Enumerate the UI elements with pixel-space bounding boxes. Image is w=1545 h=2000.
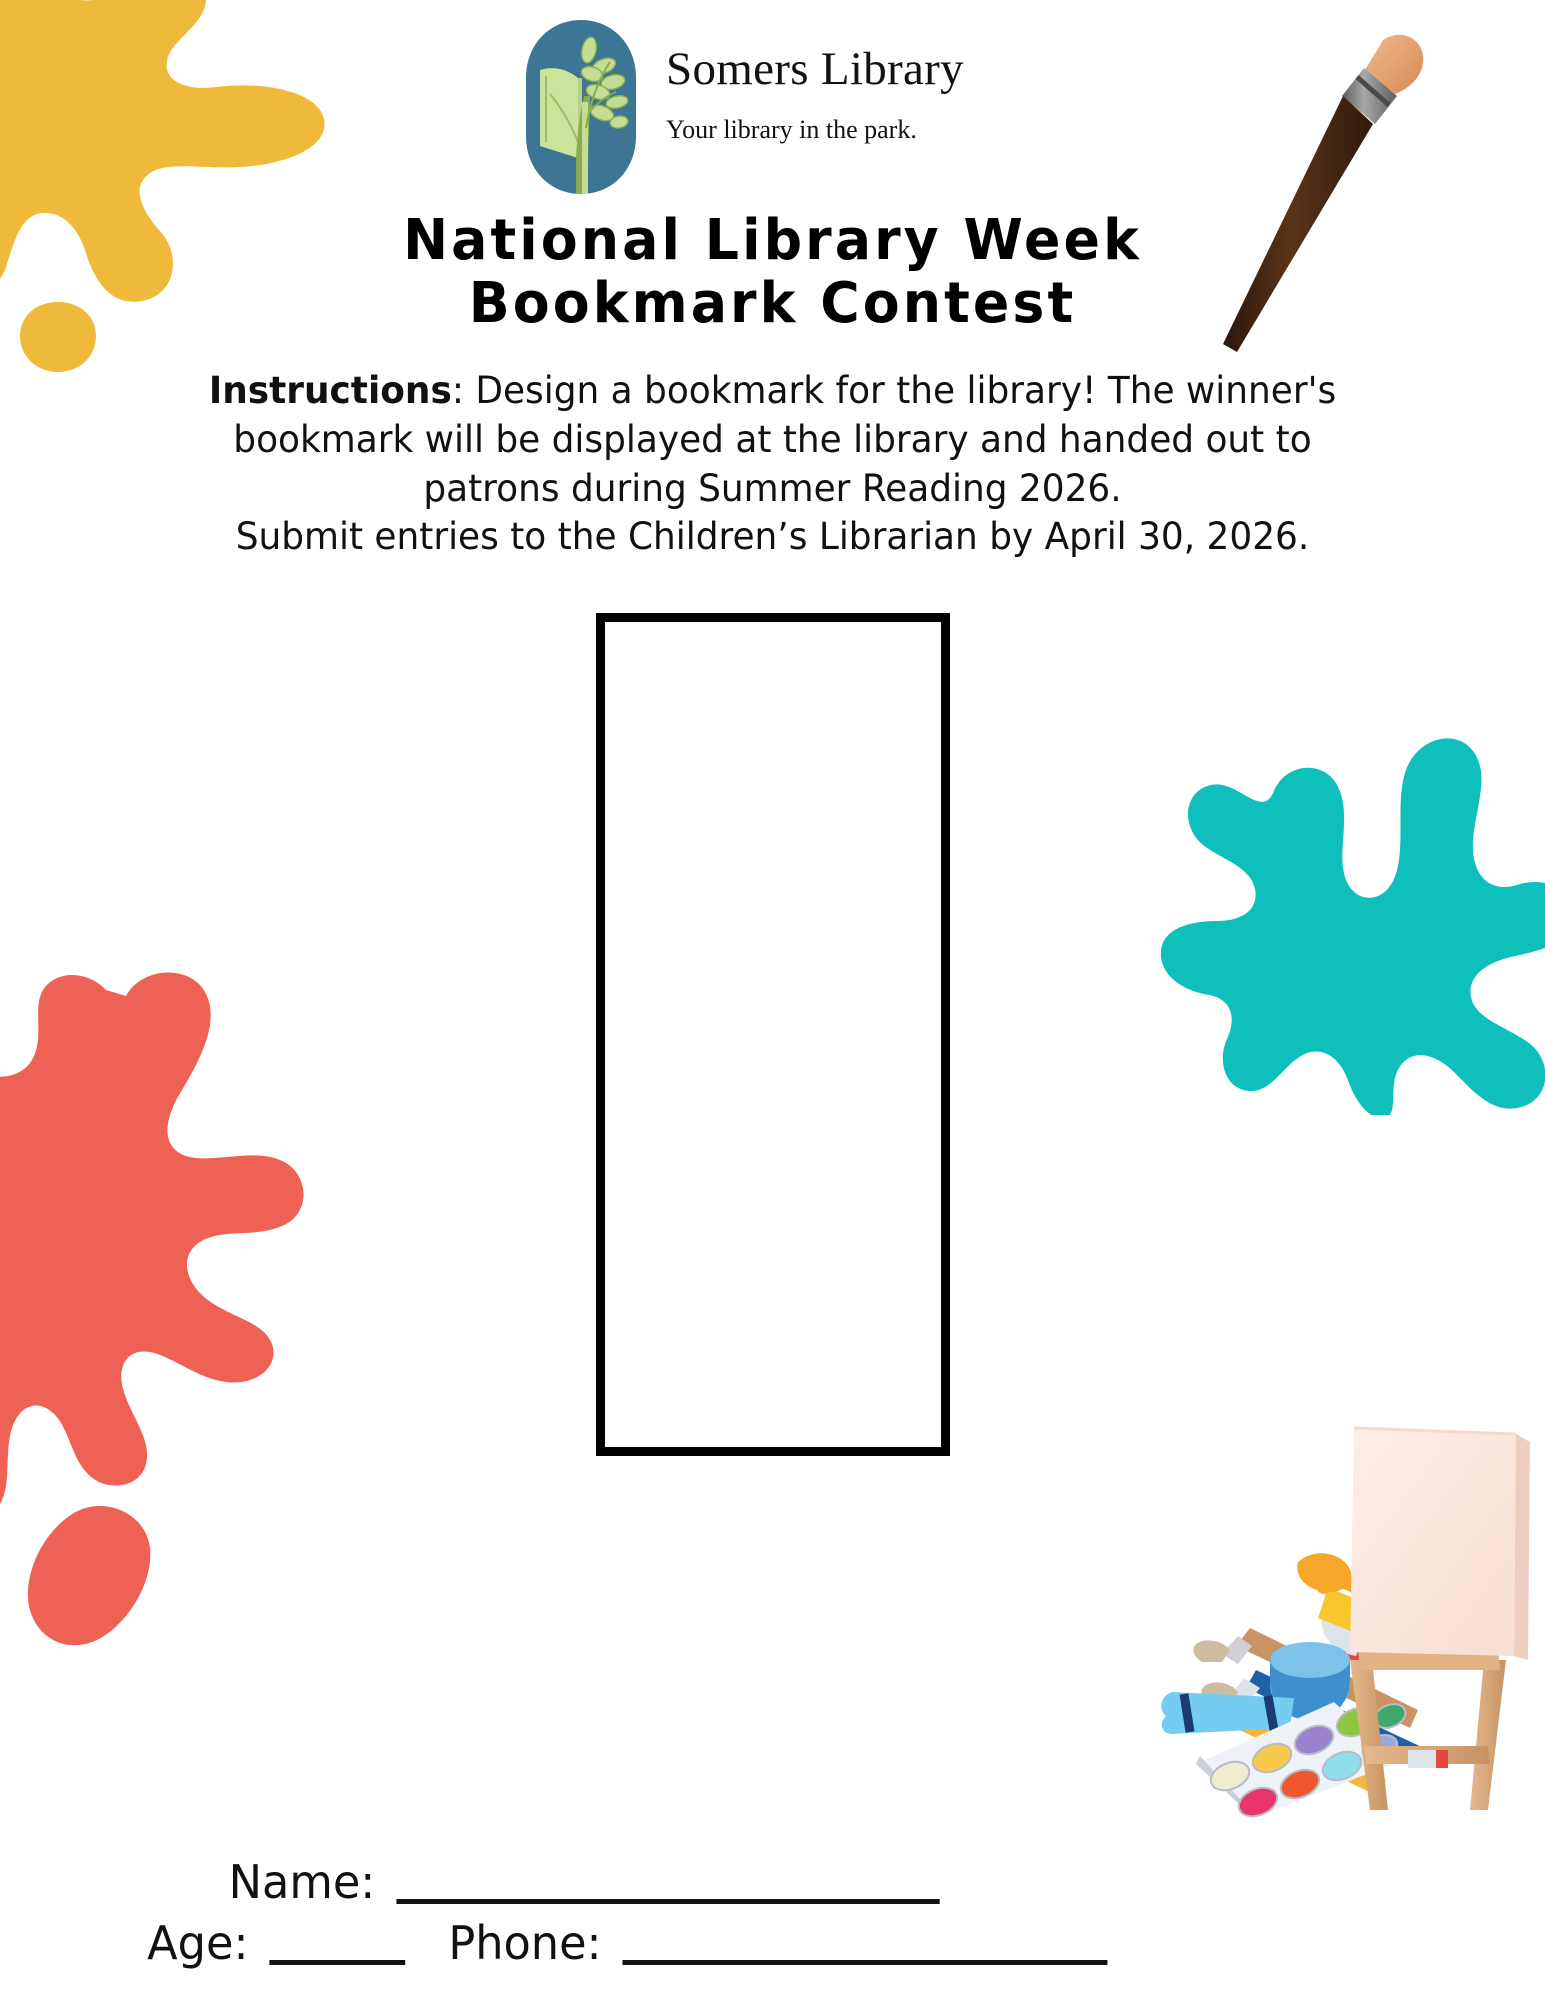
instructions-paragraph: Instructions: Design a bookmark for the … xyxy=(209,369,1336,510)
library-tagline: Your library in the park. xyxy=(666,117,964,143)
page-title-line-1: National Library Week xyxy=(31,210,1514,273)
library-name: Somers Library xyxy=(666,46,964,93)
instructions-block: Instructions: Design a bookmark for the … xyxy=(169,367,1377,562)
bookmark-drawing-box[interactable] xyxy=(596,613,950,1456)
logo-wordmark: Somers Library Your library in the park. xyxy=(666,18,964,143)
easel-art-supplies-icon xyxy=(1118,1398,1545,1818)
open-book-tree-logo-icon xyxy=(520,18,642,203)
age-input-blank[interactable] xyxy=(270,1960,406,1965)
flyer-page: Somers Library Your library in the park. xyxy=(0,0,1545,2000)
page-title-line-2: Bookmark Contest xyxy=(31,273,1514,336)
age-label: Age: xyxy=(147,1916,248,1970)
form-row-name: Name: xyxy=(120,1852,1400,1913)
phone-label: Phone: xyxy=(448,1916,601,1970)
teal-paint-splatter xyxy=(1155,655,1545,1115)
instructions-submit-line: Submit entries to the Children’s Librari… xyxy=(169,513,1377,562)
entry-form: Name: Age:Phone: xyxy=(120,1852,1400,1973)
library-logo: Somers Library Your library in the park. xyxy=(520,18,964,203)
instructions-label: Instructions xyxy=(209,369,452,412)
red-paint-splatter xyxy=(0,970,360,1680)
phone-input-blank[interactable] xyxy=(623,1960,1108,1965)
name-label: Name: xyxy=(229,1855,376,1909)
form-row-age-phone: Age:Phone: xyxy=(120,1913,1400,1974)
page-title: National Library Week Bookmark Contest xyxy=(31,210,1514,335)
name-input-blank[interactable] xyxy=(397,1899,940,1904)
instructions-separator: : xyxy=(452,369,476,412)
